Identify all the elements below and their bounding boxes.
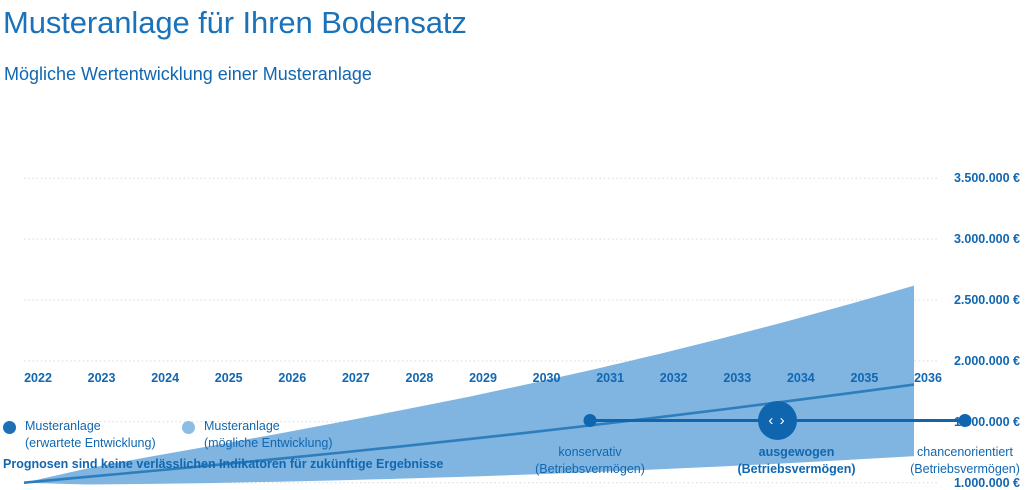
x-axis-label: 2025 <box>215 371 243 385</box>
legend-entry: Musteranlage(mögliche Entwicklung) <box>182 418 333 452</box>
y-axis-label: 2.500.000 € <box>954 293 1020 307</box>
y-axis-label: 3.000.000 € <box>954 232 1020 246</box>
x-axis-label: 2028 <box>406 371 434 385</box>
slider-stop-konservativ[interactable] <box>584 414 597 427</box>
x-axis-label: 2033 <box>723 371 751 385</box>
x-axis-label: 2027 <box>342 371 370 385</box>
page-subtitle: Mögliche Wertentwicklung einer Musteranl… <box>4 64 372 85</box>
x-axis-label: 2030 <box>533 371 561 385</box>
forecast-disclaimer: Prognosen sind keine verlässlichen Indik… <box>3 457 443 471</box>
forecast-chart: 3.500.000 €3.000.000 €2.500.000 €2.000.0… <box>0 140 1025 390</box>
legend-label: Musteranlage(erwartete Entwicklung) <box>25 418 156 452</box>
x-axis-label: 2029 <box>469 371 497 385</box>
slider-label-chancenorientiert[interactable]: chancenorientiert(Betriebsvermögen) <box>910 444 1020 478</box>
slider-label-konservativ[interactable]: konservativ(Betriebsvermögen) <box>535 444 645 478</box>
legend-entry: Musteranlage(erwartete Entwicklung) <box>3 418 156 452</box>
x-axis-label: 2034 <box>787 371 815 385</box>
x-axis-label: 2024 <box>151 371 179 385</box>
x-axis-label: 2032 <box>660 371 688 385</box>
legend-label: Musteranlage(mögliche Entwicklung) <box>204 418 333 452</box>
x-axis-label: 2023 <box>88 371 116 385</box>
legend-dot-expected-icon <box>3 421 16 434</box>
slider-stop-chancenorientiert[interactable] <box>959 414 972 427</box>
slider-label-ausgewogen[interactable]: ausgewogen(Betriebsvermögen) <box>737 444 855 478</box>
x-axis-label: 2035 <box>851 371 879 385</box>
x-axis-label: 2031 <box>596 371 624 385</box>
chart-legend: Musteranlage(erwartete Entwicklung)Muste… <box>0 414 520 484</box>
slider-handle[interactable]: ‹ › <box>758 401 797 440</box>
legend-dot-possible-icon <box>182 421 195 434</box>
x-axis-label: 2026 <box>278 371 306 385</box>
y-axis-label: 2.000.000 € <box>954 354 1020 368</box>
risk-profile-slider[interactable]: ‹ › konservativ(Betriebsvermögen)ausgewo… <box>540 402 1025 483</box>
page-title: Musteranlage für Ihren Bodensatz <box>3 5 467 41</box>
y-axis-label: 3.500.000 € <box>954 171 1020 185</box>
x-axis-label: 2022 <box>24 371 52 385</box>
x-axis-label: 2036 <box>914 371 942 385</box>
